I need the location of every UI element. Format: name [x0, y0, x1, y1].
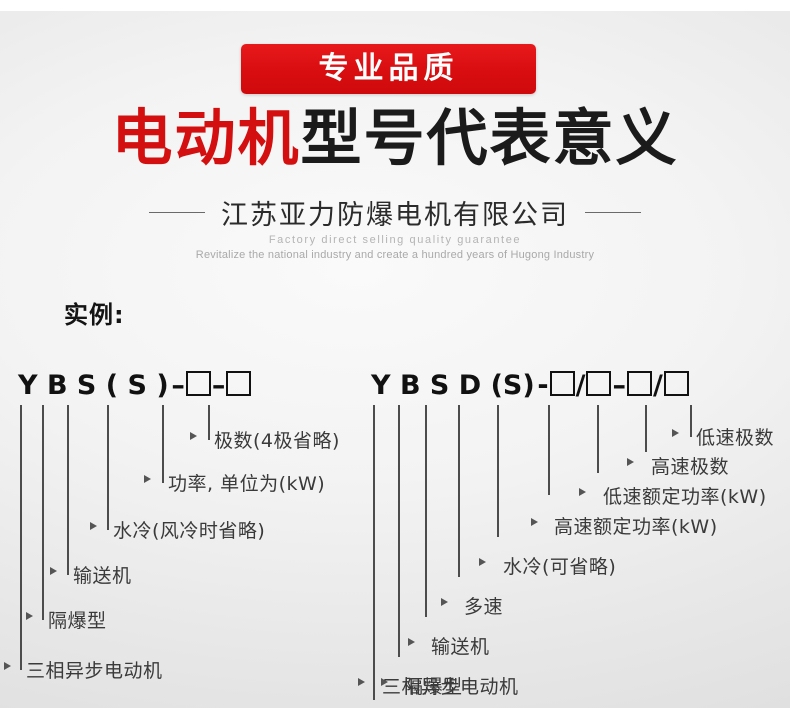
stem-high-speed-poles: [645, 405, 647, 452]
annotation-multi-speed: 多速: [464, 592, 503, 619]
annotation-water-cooled: 水冷(可省略): [503, 552, 616, 579]
pointer-triangle: [672, 429, 679, 437]
stem-low-speed-poles: [690, 405, 692, 437]
stem-conveyor: [67, 405, 69, 575]
pointer-triangle: [358, 678, 365, 686]
pointer-triangle: [190, 432, 197, 440]
rule-right: [585, 212, 641, 213]
page-title-black-part: 型号代表意义: [301, 103, 679, 174]
code-placeholder-box: [627, 371, 652, 396]
page-title-red-part: 电动机: [111, 103, 300, 174]
stem-flameproof: [42, 405, 44, 620]
stem-pole-number: [208, 405, 210, 440]
annotation-low-speed-rated-power: 低速额定功率(kW): [603, 482, 767, 509]
pointer-triangle: [26, 612, 33, 620]
annotation-flameproof: 隔爆型: [48, 606, 107, 633]
model-code-diagram-left: Y B S ( S ) –– 极数(4极省略) 功率, 单位为(kW) 水冷(风…: [0, 370, 360, 670]
stem-three-phase: [20, 405, 22, 670]
pointer-triangle: [627, 458, 634, 466]
annotation-power-rating: 功率, 单位为(kW): [168, 469, 325, 496]
pointer-triangle: [408, 638, 415, 646]
annotation-high-speed-poles: 高速极数: [651, 452, 729, 479]
annotation-low-speed-poles: 低速极数: [696, 423, 774, 450]
stem-water-cooled: [497, 405, 499, 537]
pointer-triangle: [579, 488, 586, 496]
company-name: 江苏亚力防爆电机有限公司: [221, 193, 569, 232]
pointer-triangle: [50, 567, 57, 575]
annotation-water-cooled: 水冷(风冷时省略): [113, 516, 265, 543]
model-code-right: Y B S D (S) -/–/: [371, 370, 690, 401]
subtitle-english-secondary: Revitalize the national industry and cre…: [0, 249, 790, 261]
example-section-label: 实例:: [64, 295, 125, 330]
top-white-strip: [0, 0, 790, 11]
quality-badge: 专业品质: [241, 44, 536, 94]
annotation-conveyor: 输送机: [73, 561, 132, 588]
stem-low-speed-power: [597, 405, 599, 473]
pointer-triangle: [441, 598, 448, 606]
code-placeholder-box: [664, 371, 689, 396]
model-code-right-text: Y B S D (S) -/–/: [371, 370, 690, 401]
stem-three-phase: [373, 405, 375, 700]
pointer-triangle: [479, 558, 486, 566]
stem-multi-speed: [458, 405, 460, 577]
pointer-triangle: [90, 522, 97, 530]
rule-left: [149, 212, 205, 213]
annotation-three-phase-async-motor: 三相异步电动机: [26, 656, 163, 683]
annotation-three-phase-async-motor: 三相异步电动机: [382, 672, 519, 699]
stem-power-rating: [162, 405, 164, 483]
code-placeholder-box: [226, 371, 251, 396]
quality-badge-label: 专业品质: [241, 44, 536, 94]
annotation-conveyor: 输送机: [431, 632, 490, 659]
page-root: 专业品质 电动机型号代表意义 江苏亚力防爆电机有限公司 Factory dire…: [0, 0, 790, 708]
model-code-left-text: Y B S ( S ) ––: [18, 370, 252, 401]
stem-high-speed-power: [548, 405, 550, 495]
annotation-pole-number: 极数(4极省略): [214, 426, 340, 453]
company-row: 江苏亚力防爆电机有限公司: [0, 193, 790, 232]
pointer-triangle: [4, 662, 11, 670]
subtitle-english-primary: Factory direct selling quality guarantee: [0, 234, 790, 246]
stem-water-cooled: [107, 405, 109, 530]
code-placeholder-box: [586, 371, 611, 396]
model-code-left: Y B S ( S ) ––: [18, 370, 252, 401]
code-placeholder-box: [550, 371, 575, 396]
pointer-triangle: [144, 475, 151, 483]
stem-flameproof: [398, 405, 400, 657]
page-title: 电动机型号代表意义: [0, 104, 790, 174]
pointer-triangle: [531, 518, 538, 526]
code-placeholder-box: [186, 371, 211, 396]
model-code-diagram-right: Y B S D (S) -/–/ 低速极数 高速极数 低速额定功率(kW) 高速…: [355, 370, 790, 700]
stem-conveyor: [425, 405, 427, 617]
annotation-high-speed-rated-power: 高速额定功率(kW): [554, 512, 718, 539]
